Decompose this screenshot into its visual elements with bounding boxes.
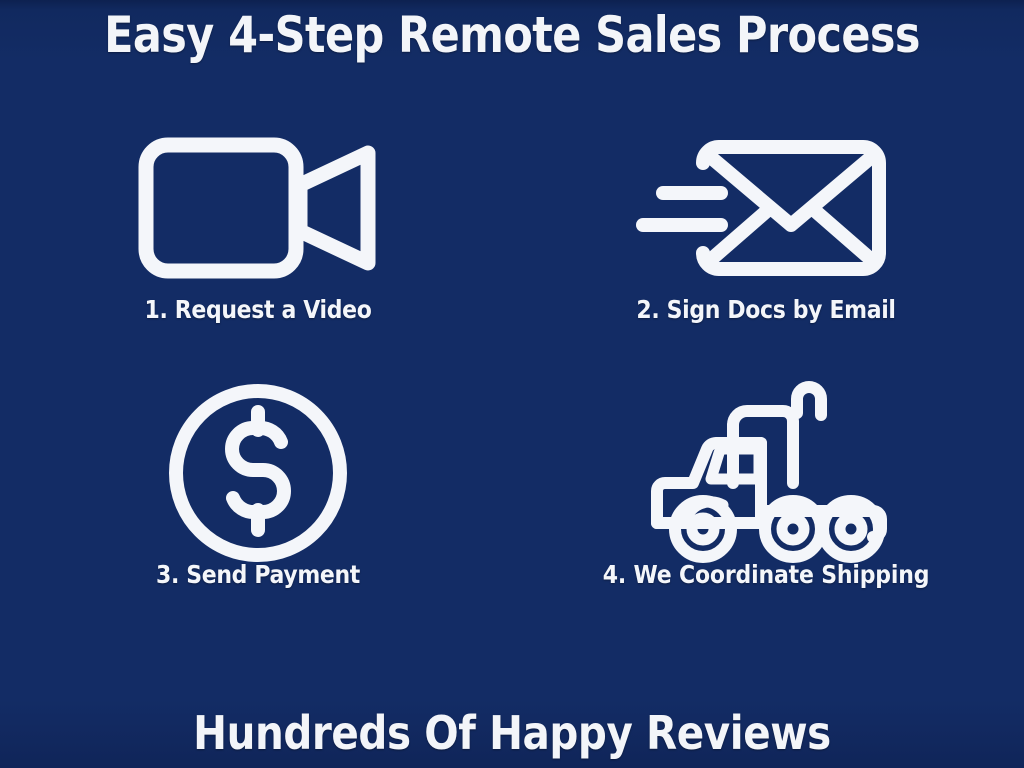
- step-3-label: 3. Send Payment: [73, 560, 443, 590]
- step-1-label: 1. Request a Video: [73, 295, 443, 325]
- step-4-label: 4. We Coordinate Shipping: [581, 560, 951, 590]
- step-2-sign-docs-by-email: 2. Sign Docs by Email: [556, 120, 976, 325]
- video-camera-icon: [48, 120, 468, 295]
- step-4-we-coordinate-shipping: 4. We Coordinate Shipping: [556, 385, 976, 590]
- infographic-canvas: Easy 4-Step Remote Sales Process 1. Requ…: [0, 0, 1024, 768]
- semi-truck-icon: [556, 385, 976, 560]
- page-title: Easy 4-Step Remote Sales Process: [72, 4, 953, 66]
- footer-tagline: Hundreds Of Happy Reviews: [61, 705, 962, 761]
- sent-envelope-icon: [556, 120, 976, 295]
- step-3-send-payment: 3. Send Payment: [48, 385, 468, 590]
- step-2-label: 2. Sign Docs by Email: [581, 295, 951, 325]
- step-1-request-a-video: 1. Request a Video: [48, 120, 468, 325]
- dollar-coin-icon: [48, 385, 468, 560]
